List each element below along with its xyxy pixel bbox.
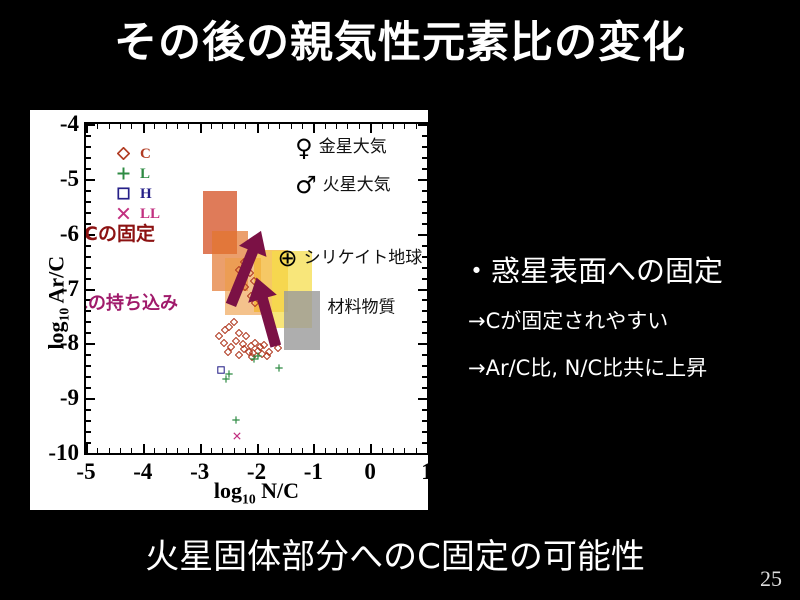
slide-footer: 火星固体部分へのC固定の可能性	[0, 529, 790, 578]
x-tick-label: -3	[190, 459, 209, 485]
axis-tick	[418, 453, 427, 455]
y-tick-label: -7	[60, 276, 79, 302]
x-tick-label: -2	[247, 459, 266, 485]
callout-c-fixation: Cの固定	[84, 219, 155, 246]
axis-tick	[427, 444, 429, 453]
axis-tick	[86, 453, 95, 455]
y-tick-label: -6	[60, 221, 79, 247]
x-tick-label: 0	[364, 459, 376, 485]
chart-panel: CLHLL♀金星大気♂火星大気⊕シリケイト地球材料物質Cの固定コアへの持ち込み …	[30, 110, 428, 510]
plot-area: CLHLL♀金星大気♂火星大気⊕シリケイト地球材料物質Cの固定コアへの持ち込み	[84, 122, 429, 455]
x-tick-label: -1	[304, 459, 323, 485]
x-tick-label: -5	[76, 459, 95, 485]
x-tick-label: 1	[421, 459, 433, 485]
x-tick-label: -4	[133, 459, 152, 485]
right-heading: ・惑星表面への固定	[462, 248, 723, 290]
y-tick-label: -10	[48, 440, 79, 466]
callout-core-delivery: コアへの持ち込み	[84, 289, 178, 315]
y-tick-label: -4	[60, 111, 79, 137]
slide-root: その後の親気性元素比の変化 CLHLL♀金星大気♂火星大気⊕シリケイト地球材料物…	[0, 0, 800, 600]
page-number: 25	[760, 566, 782, 592]
arrow-core-delivery	[248, 278, 281, 348]
right-bullet-2: →Ar/C比, N/C比共に上昇	[468, 352, 707, 382]
page-title: その後の親気性元素比の変化	[0, 8, 800, 70]
y-tick-label: -9	[60, 385, 79, 411]
y-tick-label: -8	[60, 330, 79, 356]
y-tick-label: -5	[60, 166, 79, 192]
right-bullet-1: →Cが固定されやすい	[468, 305, 668, 335]
axis-tick	[427, 124, 429, 133]
